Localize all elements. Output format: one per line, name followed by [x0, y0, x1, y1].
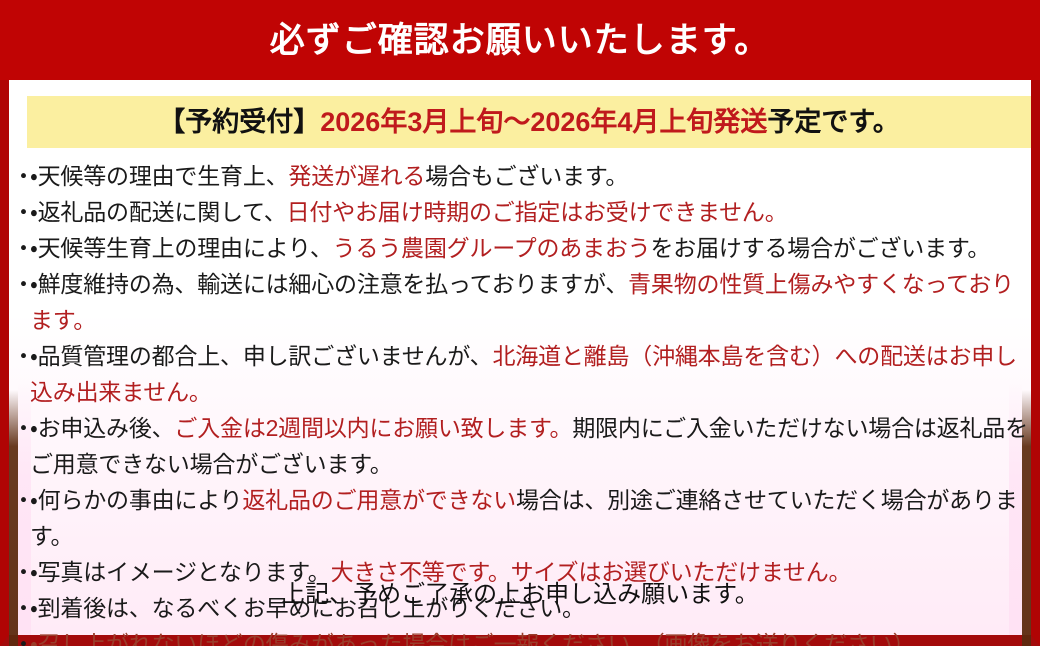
notice-text-highlight: ご入金は2週間以内にお願い致します。	[174, 415, 572, 441]
reservation-prefix: 【予約受付】	[158, 107, 320, 137]
reservation-banner-text: 【予約受付】2026年3月上旬～2026年4月上旬発送予定です。	[158, 109, 899, 136]
notice-text-highlight: ・召し上がれないほどの傷みがあった場合はご一報ください。（画像をお送りください）	[30, 631, 915, 646]
notice-item: ・返礼品の配送に関して、日付やお届け時期のご指定はお受けできません。	[14, 194, 1028, 230]
notice-text-highlight: うるう農園グループのあまおう	[333, 235, 651, 261]
notice-footer-text: 上記、予めご了承の上お申し込み願います。	[9, 583, 1031, 607]
notice-item: ・何らかの事由により返礼品のご用意ができない場合は、別途ご連絡させていただく場合…	[14, 482, 1028, 554]
notice-text-highlight: 返礼品のご用意ができない	[242, 487, 516, 513]
notice-text: ・お申込み後、	[30, 415, 174, 441]
notice-body-frame: 【予約受付】2026年3月上旬～2026年4月上旬発送予定です。 ・天候等の理由…	[0, 80, 1040, 646]
notice-text: をお届けする場合がございます。	[650, 235, 990, 261]
notice-item: ・天候等生育上の理由により、うるう農園グループのあまおうをお届けする場合がござい…	[14, 230, 1028, 266]
notice-item: ・お申込み後、ご入金は2週間以内にお願い致します。期限内にご入金いただけない場合…	[14, 410, 1028, 482]
notice-header-band: 必ずご確認お願いいたします。	[0, 0, 1040, 80]
notice-text-highlight: 発送が遅れる	[288, 163, 425, 189]
reservation-banner: 【予約受付】2026年3月上旬～2026年4月上旬発送予定です。	[27, 96, 1031, 148]
reservation-suffix: 予定です。	[767, 107, 899, 137]
notice-item: ・召し上がれないほどの傷みがあった場合はご一報ください。（画像をお送りください）	[14, 626, 1028, 646]
notice-item: ・鮮度維持の為、輸送には細心の注意を払っておりますが、青果物の性質上傷みやすくな…	[14, 266, 1028, 338]
notice-text: ・返礼品の配送に関して、	[30, 199, 287, 225]
page-title: 必ずご確認お願いいたします。	[270, 23, 771, 58]
reservation-ship-period: 2026年3月上旬～2026年4月上旬発送	[320, 107, 767, 137]
notice-text: ・天候等生育上の理由により、	[30, 235, 333, 261]
notice-text: ・鮮度維持の為、輸送には細心の注意を払っておりますが、	[30, 271, 628, 297]
notice-list: ・天候等の理由で生育上、発送が遅れる場合もございます。・返礼品の配送に関して、日…	[14, 158, 1028, 646]
notice-text: 場合もございます。	[425, 163, 628, 189]
notice-item: ・品質管理の都合上、申し訳ございませんが、北海道と離島（沖縄本島を含む）への配送…	[14, 338, 1028, 410]
notice-text: ・品質管理の都合上、申し訳ございませんが、	[30, 343, 492, 369]
notice-text: ・天候等の理由で生育上、	[30, 163, 288, 189]
notice-item: ・天候等の理由で生育上、発送が遅れる場合もございます。	[14, 158, 1028, 194]
notice-text: ・何らかの事由により	[30, 487, 242, 513]
notice-text-highlight: 日付やお届け時期のご指定はお受けできません。	[287, 199, 788, 225]
shipping-notice-card: 必ずご確認お願いいたします。 【予約受付】2026年3月上旬～2026年4月上旬…	[0, 0, 1040, 646]
